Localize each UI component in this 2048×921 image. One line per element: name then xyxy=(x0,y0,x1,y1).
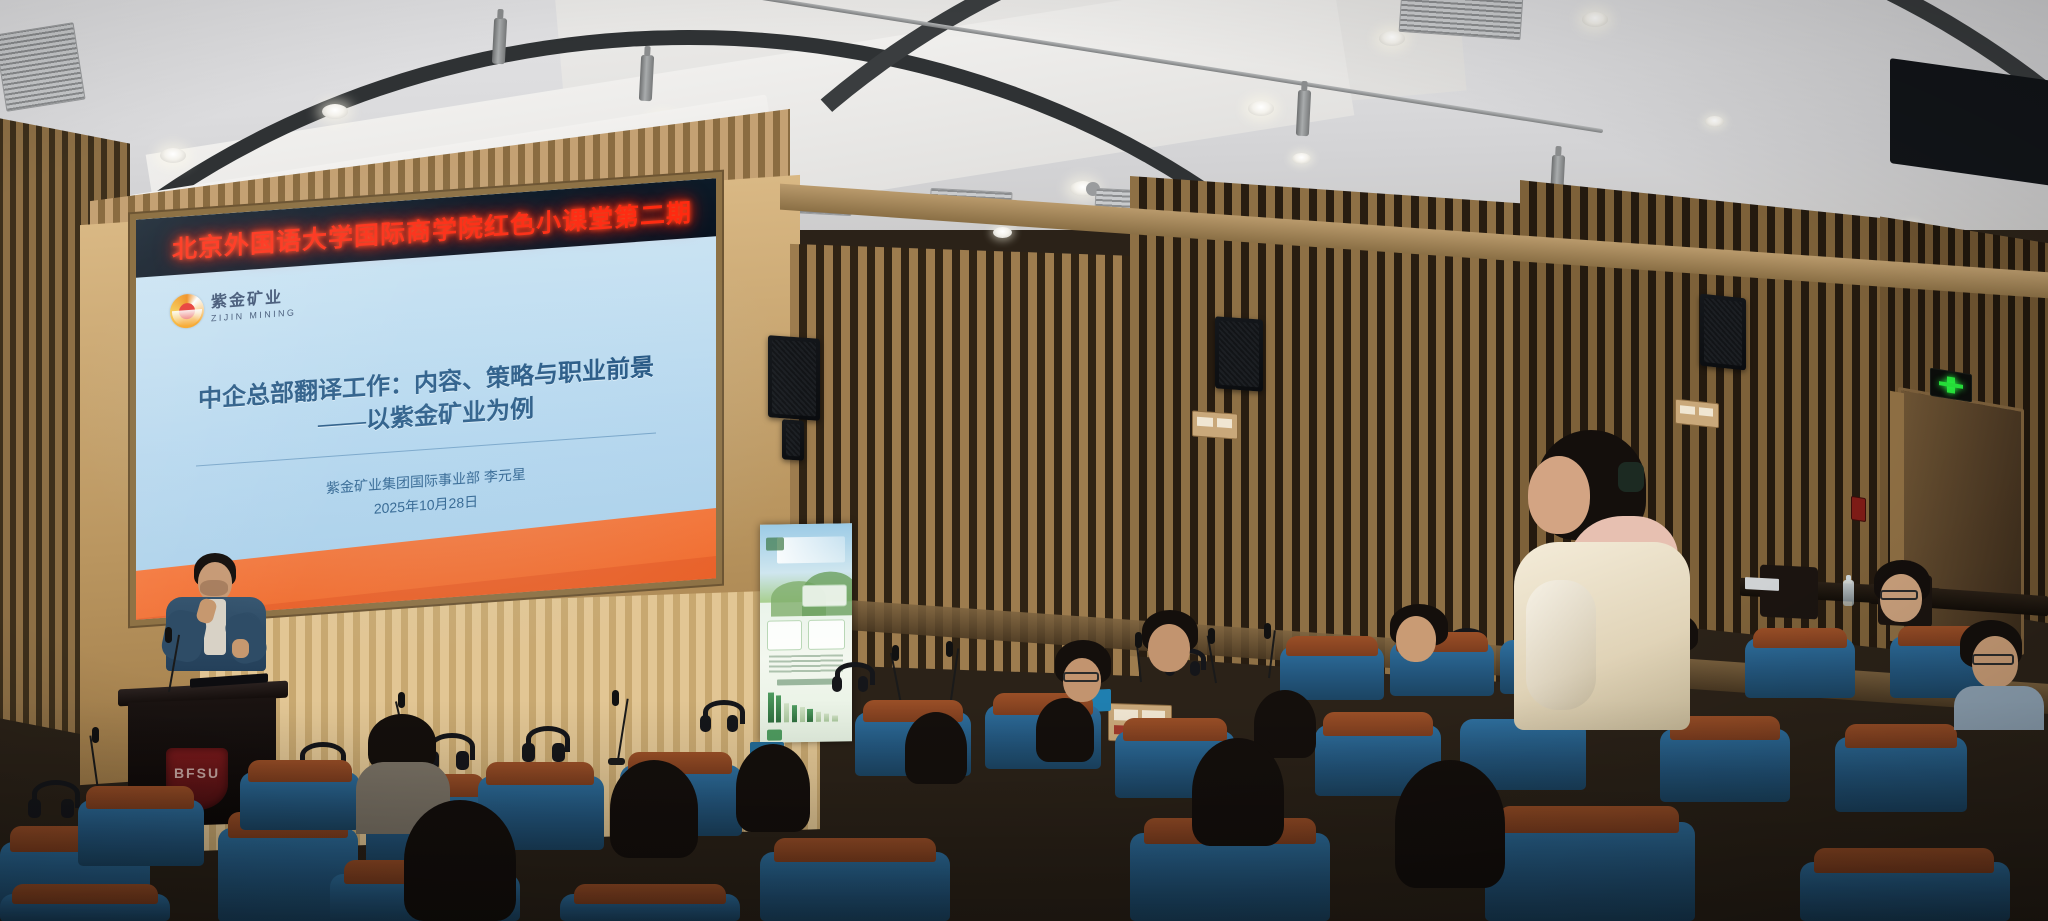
side-table-chair xyxy=(1760,564,1818,619)
slide-logo: 紫金矿业 ZIJIN MINING xyxy=(170,286,296,329)
headset-earcup xyxy=(61,799,74,818)
rollup-chart-bar xyxy=(776,695,781,723)
rollup-info-card xyxy=(808,619,845,650)
track-spotlight xyxy=(1296,90,1311,137)
side-table-nameplate xyxy=(1745,577,1779,591)
water-bottle xyxy=(1843,580,1854,606)
presenter-hand-right xyxy=(232,639,249,658)
attendee-glasses xyxy=(1880,590,1918,600)
standing-attendee-head xyxy=(1528,456,1590,534)
desk-headset xyxy=(832,662,870,696)
presenter-face-shadow xyxy=(200,580,228,596)
seated-attendee xyxy=(1140,610,1206,686)
ceiling-downlight xyxy=(1248,101,1274,116)
exit-cross-icon xyxy=(1939,375,1963,394)
fire-alarm-panel[interactable] xyxy=(1851,496,1866,522)
desk-microphone-head xyxy=(1264,623,1271,639)
attendee-hair xyxy=(1395,760,1505,888)
ceiling-downlight xyxy=(993,227,1012,238)
headset-earcup xyxy=(552,743,565,762)
seat-back xyxy=(1485,822,1695,921)
zijin-mark-icon xyxy=(170,293,204,329)
rollup-chart-bar xyxy=(768,692,773,723)
seated-attendee xyxy=(1395,760,1505,890)
wall-speaker xyxy=(1700,294,1746,371)
seat xyxy=(240,760,360,830)
environmental-rollup-banner xyxy=(760,523,852,743)
desk-microphone-head xyxy=(946,641,953,657)
hvac-vent xyxy=(0,22,86,112)
plate-switch[interactable] xyxy=(1197,417,1213,427)
ceiling-downlight xyxy=(1379,31,1405,46)
plate-switch[interactable] xyxy=(1699,407,1713,416)
seat-headrest xyxy=(1814,848,1994,873)
attendee-hair xyxy=(610,760,698,858)
rollup-callout-card xyxy=(802,584,846,606)
seat-back xyxy=(1835,737,1967,812)
rollup-chart-bar xyxy=(807,709,812,722)
standing-attendee-coat-fold xyxy=(1526,580,1596,710)
desk-microphone-head xyxy=(1208,628,1215,644)
seat xyxy=(1485,806,1695,921)
desk-microphone-head xyxy=(612,690,619,706)
lecture-hall-photo: 北京外国语大学国际商学院红色小课堂第二期 紫金矿业 ZIJIN MINING 中… xyxy=(0,0,2048,921)
attendee-head xyxy=(1148,624,1190,672)
rollup-chart-bar xyxy=(784,704,789,723)
headset-earcup xyxy=(727,715,738,732)
seated-attendee xyxy=(1390,604,1456,672)
desk-headset xyxy=(700,700,740,736)
seat-headrest xyxy=(1499,806,1679,833)
seated-attendee xyxy=(610,760,698,860)
seat-back xyxy=(78,800,204,866)
seated-attendee xyxy=(1870,560,1940,650)
headset-earcup xyxy=(832,676,842,692)
ceiling-downlight xyxy=(322,104,348,119)
podium-microphone-head xyxy=(165,627,172,643)
wall-speaker xyxy=(782,419,804,461)
track-spotlight xyxy=(492,18,507,65)
seat xyxy=(0,884,170,921)
desk-microphone-head xyxy=(398,692,405,708)
seat xyxy=(1800,848,2010,921)
seat-headrest xyxy=(574,884,726,904)
ceiling-downlight xyxy=(1705,116,1724,127)
track-spotlight xyxy=(639,55,654,102)
wall-control-plate[interactable] xyxy=(1675,399,1719,429)
seat-headrest xyxy=(248,760,352,782)
wall-control-plate[interactable] xyxy=(1192,410,1238,439)
rollup-chart-caption xyxy=(777,678,836,686)
seated-attendee xyxy=(736,744,810,834)
rollup-title-band xyxy=(777,536,845,563)
seated-attendee xyxy=(404,800,516,921)
rollup-chart-bar xyxy=(816,711,821,722)
seated-attendee xyxy=(1960,620,2038,730)
seat-headrest xyxy=(1323,712,1433,736)
seated-attendee xyxy=(1192,738,1284,848)
rollup-chart-bar xyxy=(824,713,829,722)
headset-earcup xyxy=(700,715,711,732)
rollup-footer-badge xyxy=(767,729,782,740)
attendee-head xyxy=(1396,616,1436,662)
seated-attendee xyxy=(905,712,967,786)
attendee-hair xyxy=(736,744,810,832)
attendee-hair xyxy=(1192,738,1284,846)
desk-headset xyxy=(28,780,76,822)
rollup-chart-bar xyxy=(792,705,797,723)
hair-clip xyxy=(1618,462,1644,492)
seat xyxy=(760,838,950,921)
seat-back xyxy=(760,852,950,921)
wall-speaker xyxy=(1215,316,1263,391)
standing-attendee xyxy=(1512,430,1702,730)
seat-headrest xyxy=(86,786,194,809)
attendee-glasses xyxy=(1063,672,1099,682)
seat-headrest xyxy=(1845,724,1957,748)
seat xyxy=(1745,628,1855,698)
rollup-chart-bar xyxy=(832,715,837,722)
seat-headrest xyxy=(486,762,594,785)
desk-microphone-head xyxy=(892,645,899,661)
seat xyxy=(1835,724,1967,812)
rollup-info-card xyxy=(767,620,802,651)
wall-speaker xyxy=(768,335,820,421)
zijin-logo-english: ZIJIN MINING xyxy=(211,308,296,323)
floor-microphone-head xyxy=(92,727,99,743)
rollup-chart-bar xyxy=(800,707,805,722)
seat xyxy=(78,786,204,866)
desk-headset xyxy=(522,726,566,764)
plate-switch[interactable] xyxy=(1217,418,1232,428)
headset-earcup xyxy=(456,751,469,770)
headset-earcup xyxy=(522,743,535,762)
seat-headrest xyxy=(774,838,936,862)
ceiling-downlight xyxy=(1582,12,1608,27)
plate-switch[interactable] xyxy=(1680,405,1695,415)
rollup-logo xyxy=(766,537,784,550)
headset-earcup xyxy=(858,676,868,692)
podium-crest-label: BFSU xyxy=(166,765,228,781)
attendee-hair xyxy=(404,800,516,921)
seat-headrest xyxy=(12,884,158,904)
ceiling-downlight xyxy=(160,148,186,163)
attendee-hair xyxy=(905,712,967,784)
seat xyxy=(560,884,740,921)
seat-headrest xyxy=(1753,628,1847,648)
headset-earcup xyxy=(28,799,41,818)
attendee-shirt xyxy=(1954,686,2044,730)
attendee-glasses xyxy=(1972,654,2014,665)
seated-attendee xyxy=(1055,640,1117,718)
seat-headrest xyxy=(1286,636,1378,656)
ceiling-downlight xyxy=(1292,153,1311,164)
